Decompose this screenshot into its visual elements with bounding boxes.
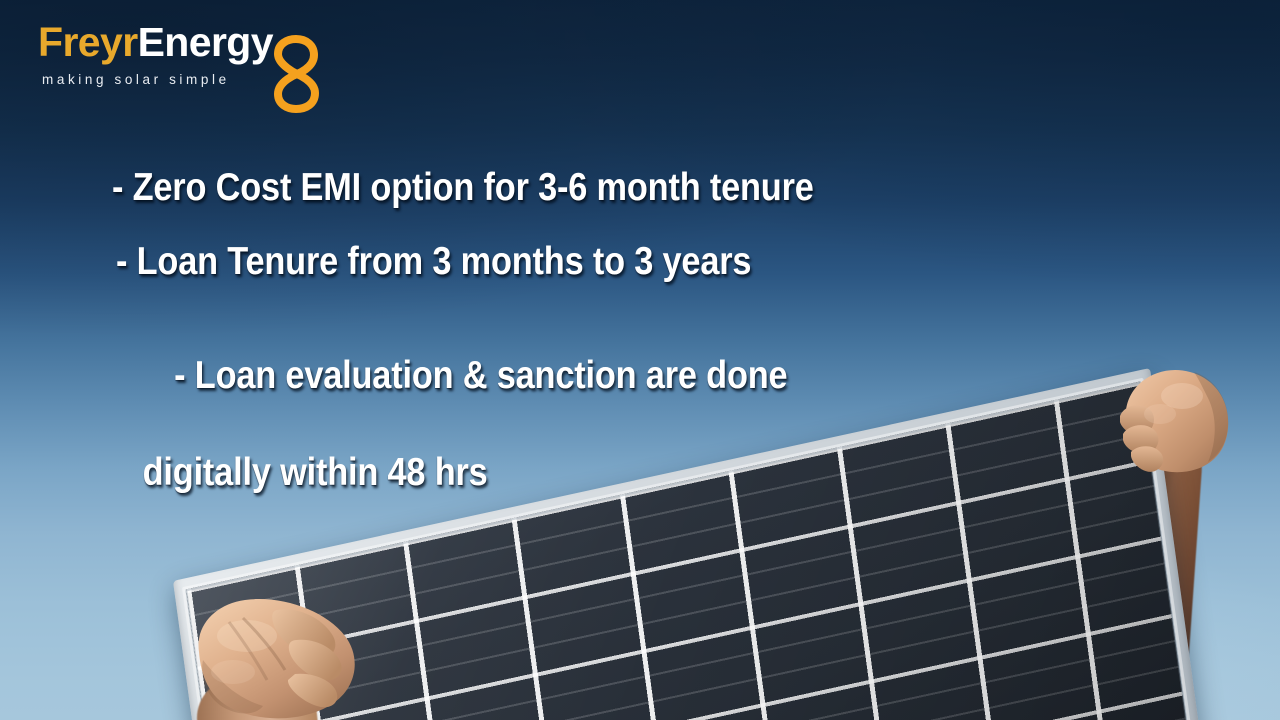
logo-tagline: making solar simple	[42, 72, 230, 87]
freyr-energy-logo[interactable]: FreyrEnergy making solar simple	[38, 22, 338, 102]
slide-canvas: FreyrEnergy making solar simple - Zero C…	[0, 0, 1280, 720]
bullet-item-3-line-2: digitally within 48 hrs	[143, 453, 887, 494]
logo-word-freyr: Freyr	[38, 19, 138, 65]
infinity-8-icon	[266, 35, 328, 113]
bullet-item-1: - Zero Cost EMI option for 3-6 month ten…	[112, 168, 886, 209]
bullet-item-2: - Loan Tenure from 3 months to 3 years	[116, 242, 887, 283]
bullet-item-3: - Loan evaluation & sanction are done di…	[118, 315, 887, 574]
bullet-list: - Zero Cost EMI option for 3-6 month ten…	[112, 168, 992, 574]
bullet-item-3-line-1: - Loan evaluation & sanction are done	[174, 354, 787, 397]
logo-word-energy: Energy	[138, 19, 273, 65]
logo-wordmark: FreyrEnergy	[38, 22, 273, 63]
